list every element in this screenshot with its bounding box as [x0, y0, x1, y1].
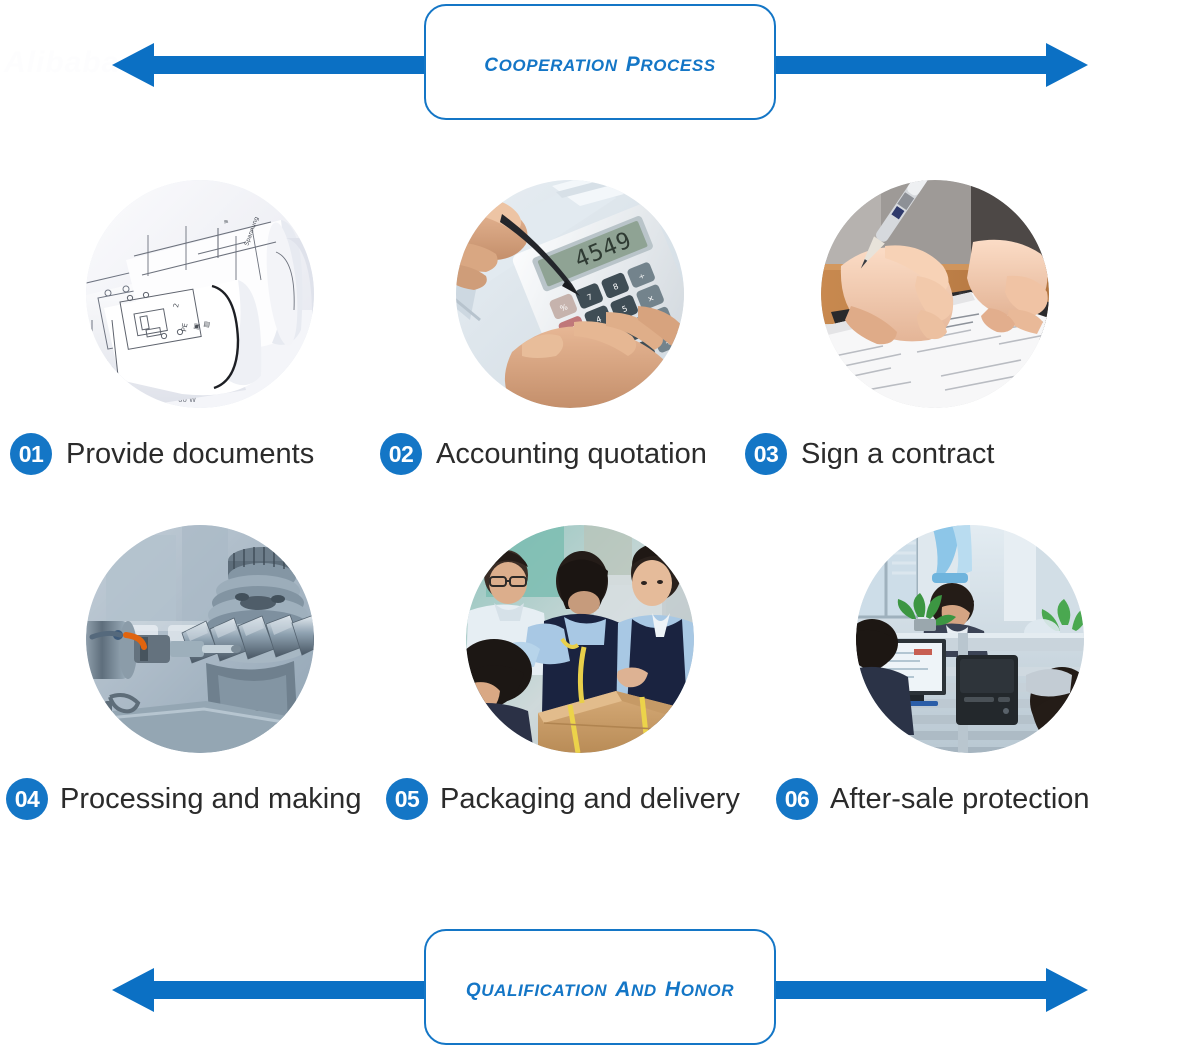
step-card-04[interactable]: 04 Processing and making: [0, 513, 400, 858]
step-label: Processing and making: [60, 783, 361, 816]
step-label: Packaging and delivery: [440, 783, 740, 816]
step-caption: 02 Accounting quotation: [370, 433, 770, 475]
banner-title-text: QUALIFICATION AND HONOR: [466, 970, 734, 1004]
step-label: Provide documents: [66, 438, 314, 471]
step-label: Accounting quotation: [436, 438, 707, 471]
step-number-badge: 06: [776, 778, 818, 820]
step-number-badge: 04: [6, 778, 48, 820]
step-label: After-sale protection: [830, 783, 1090, 816]
step-number-badge: 05: [386, 778, 428, 820]
step-label: Sign a contract: [801, 438, 994, 471]
step-caption: 01 Provide documents: [0, 433, 400, 475]
step-caption: 03 Sign a contract: [735, 433, 1135, 475]
svg-text:PE: PE: [180, 322, 189, 332]
calculator-hands-photo: 4549: [456, 180, 684, 408]
step-card-05[interactable]: 05 Packaging and delivery: [380, 513, 780, 858]
banner-cooperation-process: COOPERATION PROCESS: [0, 0, 1200, 130]
office-support-photo: [856, 525, 1084, 753]
step-card-03[interactable]: 03 Sign a contract: [735, 168, 1135, 513]
steps-row-2: 04 Processing and making: [0, 513, 1200, 858]
step-number-badge: 02: [380, 433, 422, 475]
step-card-06[interactable]: 06 After-sale protection: [770, 513, 1170, 858]
signing-contract-photo: [821, 180, 1049, 408]
step-card-01[interactable]: 60 W b1: [0, 168, 400, 513]
steps-row-1: 60 W b1: [0, 168, 1200, 513]
banner-title-box: COOPERATION PROCESS: [424, 4, 776, 120]
step-number-badge: 01: [10, 433, 52, 475]
banner-title-text: COOPERATION PROCESS: [484, 45, 715, 79]
rolled-blueprints-photo: 60 W b1: [86, 180, 314, 408]
step-number-badge: 03: [745, 433, 787, 475]
svg-text:▥: ▥: [202, 320, 211, 328]
step-caption: 04 Processing and making: [0, 778, 400, 820]
svg-text:▣: ▣: [192, 322, 201, 330]
banner-title-box: QUALIFICATION AND HONOR: [424, 929, 776, 1045]
banner-qualification-and-honor: QUALIFICATION AND HONOR: [0, 925, 1200, 1055]
step-caption: 05 Packaging and delivery: [380, 778, 780, 820]
cooperation-steps-grid: 60 W b1: [0, 168, 1200, 858]
step-card-02[interactable]: 4549: [370, 168, 770, 513]
packaging-workers-photo: [466, 525, 694, 753]
cnc-machining-photo: [86, 525, 314, 753]
step-caption: 06 After-sale protection: [770, 778, 1170, 820]
